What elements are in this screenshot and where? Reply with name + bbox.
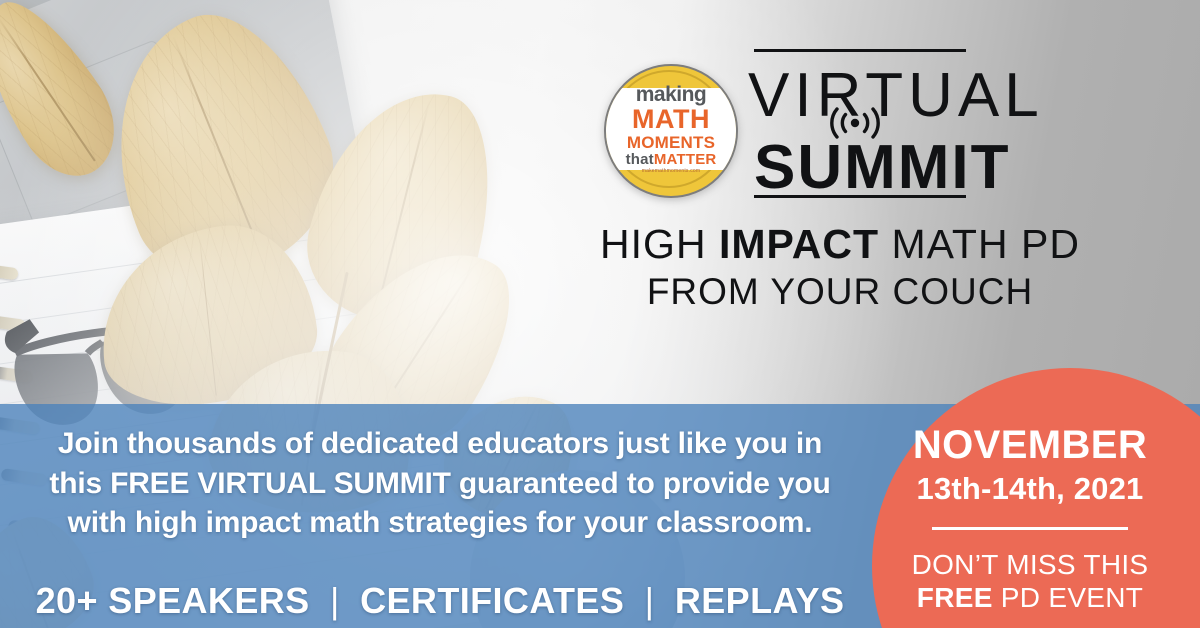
tagline-high: HIGH <box>600 221 719 267</box>
summit-promo-banner: Alt <box>0 0 1200 628</box>
logo-word-that: that <box>626 151 654 168</box>
title-virtual: VIRTUAL <box>748 60 1044 131</box>
cta-pd-event: PD EVENT <box>993 582 1144 613</box>
title-summit: SUMMIT <box>754 132 1011 203</box>
brand-logo-badge: making MATH MOMENTS thatMATTER makemathm… <box>604 64 738 198</box>
feature-separator: | <box>635 580 665 621</box>
header-rule-top <box>754 49 966 52</box>
logo-text-plate: making MATH MOMENTS thatMATTER makemathm… <box>606 88 736 170</box>
date-divider <box>932 527 1128 530</box>
tagline-line-2: FROM YOUR COUCH <box>560 271 1120 312</box>
tagline-block: HIGH IMPACT MATH PD FROM YOUR COUCH <box>560 222 1120 312</box>
event-month: NOVEMBER <box>880 424 1180 467</box>
features-row: 20+ SPEAKERS | CERTIFICATES | REPLAYS <box>30 580 850 622</box>
logo-line-making: making <box>636 84 707 105</box>
feature-speakers: 20+ SPEAKERS <box>36 580 310 621</box>
feature-separator: | <box>320 580 350 621</box>
event-days: 13th-14th, 2021 <box>880 471 1180 507</box>
logo-line-moments: MOMENTS <box>627 134 715 151</box>
logo-word-matter: MATTER <box>654 151 717 168</box>
event-date-block: NOVEMBER 13th-14th, 2021 DON’T MISS THIS… <box>880 424 1180 614</box>
logo-line-matter: thatMATTER <box>626 152 717 167</box>
cta-line-1: DON’T MISS THIS <box>880 548 1180 582</box>
logo-url: makemathmoments.com <box>642 169 701 174</box>
cta-free-word: FREE <box>917 582 993 613</box>
tagline-math-pd: MATH PD <box>879 221 1080 267</box>
promo-paragraph: Join thousands of dedicated educators ju… <box>30 424 850 543</box>
cta-line-2: FREE PD EVENT <box>880 582 1180 614</box>
logo-line-math: MATH <box>632 106 710 133</box>
feature-replays: REPLAYS <box>675 580 845 621</box>
feature-certificates: CERTIFICATES <box>360 580 624 621</box>
tagline-impact: IMPACT <box>719 221 879 267</box>
tagline-line-1: HIGH IMPACT MATH PD <box>560 222 1120 268</box>
